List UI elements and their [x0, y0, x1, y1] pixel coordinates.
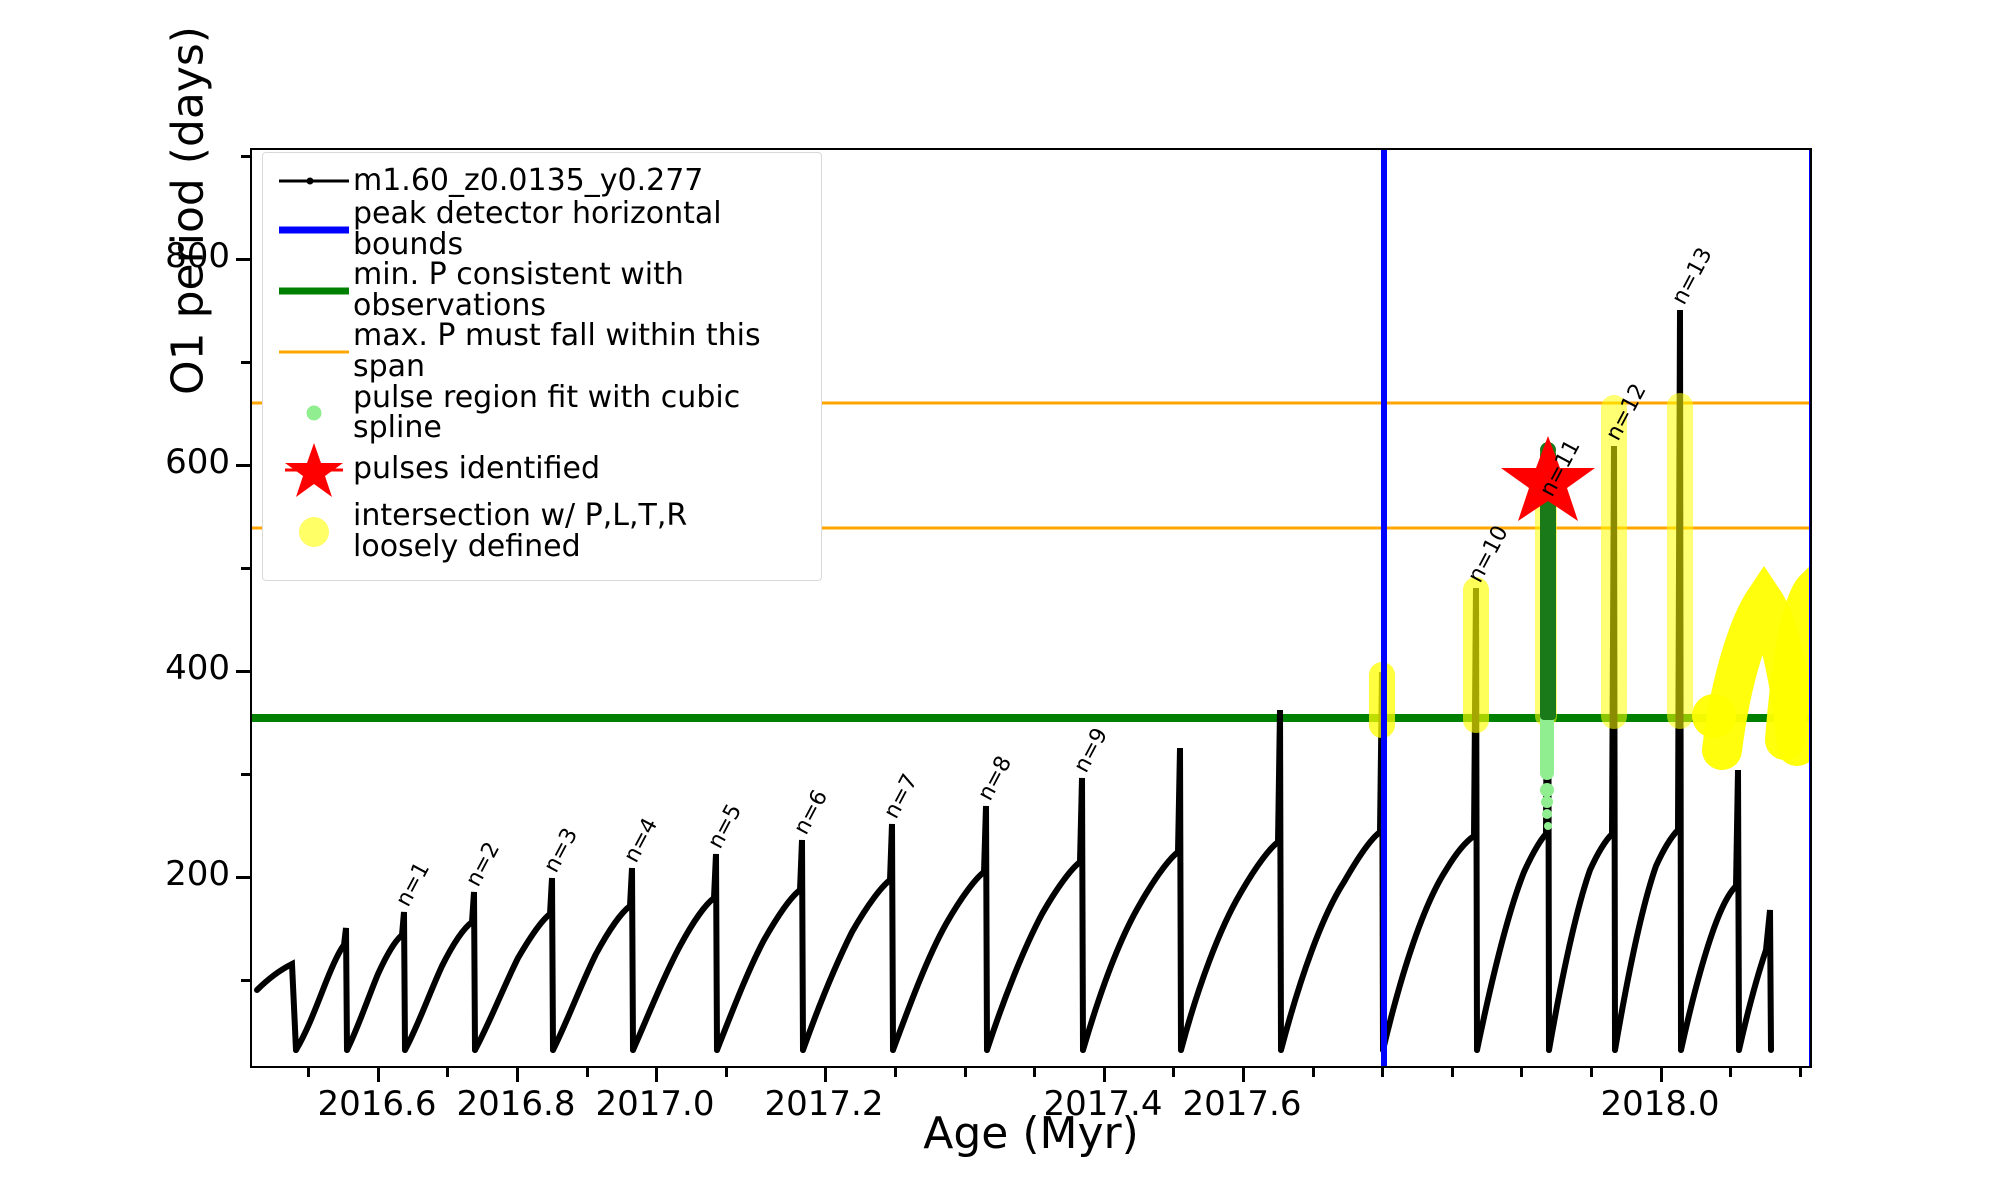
y-tick-label-200: 200 [120, 854, 230, 894]
legend-label: pulses identified [353, 454, 600, 485]
green-line-icon [275, 274, 353, 308]
x-tick-2017-0 [655, 1068, 658, 1082]
x-tick-2016-6 [377, 1068, 380, 1082]
chart-legend: m1.60_z0.0135_y0.277 peak detector horiz… [262, 152, 822, 581]
legend-item-max-span[interactable]: max. P must fall within this span [275, 321, 809, 382]
red-star-icon [275, 453, 353, 487]
legend-label: intersection w/ P,L,T,R loosely defined [353, 501, 687, 562]
x-tick-minor [586, 1068, 589, 1077]
x-tick-minor [964, 1068, 967, 1077]
y-tick-800 [236, 258, 250, 261]
x-tick-minor [1172, 1068, 1175, 1077]
x-tick-2017-2 [824, 1068, 827, 1082]
blue-line-icon [275, 213, 353, 247]
x-tick-minor [1729, 1068, 1732, 1077]
y-tick-minor [241, 361, 250, 364]
green-dot-icon [275, 396, 353, 430]
x-tick-minor [1451, 1068, 1454, 1077]
x-tick-minor [1033, 1068, 1036, 1077]
x-tick-2018-0 [1660, 1068, 1663, 1082]
legend-item-pulses[interactable]: pulses identified [275, 444, 809, 496]
x-tick-minor [1312, 1068, 1315, 1077]
x-tick-2017-6 [1242, 1068, 1245, 1082]
legend-item-model[interactable]: m1.60_z0.0135_y0.277 [275, 163, 809, 199]
x-tick-2017-4 [1103, 1068, 1106, 1082]
legend-label: pulse region fit with cubic spline [353, 383, 809, 444]
x-tick-label-2017-2: 2017.2 [724, 1084, 924, 1124]
legend-item-peak-bounds[interactable]: peak detector horizontal bounds [275, 199, 809, 260]
orange-line-icon [275, 335, 353, 369]
y-tick-minor [241, 155, 250, 158]
y-tick-label-600: 600 [120, 442, 230, 482]
black-line-with-dot-icon [275, 164, 353, 198]
legend-label: max. P must fall within this span [353, 321, 809, 382]
legend-item-min-period[interactable]: min. P consistent with observations [275, 260, 809, 321]
legend-item-intersection[interactable]: intersection w/ P,L,T,R loosely defined [275, 496, 809, 568]
y-tick-200 [236, 876, 250, 879]
legend-label: peak detector horizontal bounds [353, 199, 809, 260]
x-tick-minor [1381, 1068, 1384, 1077]
x-tick-minor [1799, 1068, 1802, 1077]
y-tick-600 [236, 464, 250, 467]
legend-label: m1.60_z0.0135_y0.277 [353, 166, 703, 197]
y-tick-label-400: 400 [120, 648, 230, 688]
x-tick-minor [725, 1068, 728, 1077]
x-tick-minor [1520, 1068, 1523, 1077]
y-tick-minor [241, 567, 250, 570]
y-tick-minor [241, 979, 250, 982]
x-tick-label-2018-0: 2018.0 [1560, 1084, 1760, 1124]
x-tick-minor [307, 1068, 310, 1077]
legend-item-spline[interactable]: pulse region fit with cubic spline [275, 383, 809, 444]
y-tick-label-800: 800 [120, 236, 230, 276]
x-tick-minor [446, 1068, 449, 1077]
x-tick-minor [894, 1068, 897, 1077]
y-tick-400 [236, 670, 250, 673]
figure-canvas: O1 period (days) Age (Myr) 800 600 400 2… [0, 0, 2000, 1200]
x-tick-minor [1590, 1068, 1593, 1077]
x-tick-2016-8 [516, 1068, 519, 1082]
legend-label: min. P consistent with observations [353, 260, 809, 321]
yellow-blob-icon [275, 515, 353, 549]
y-tick-minor [241, 773, 250, 776]
x-tick-label-2017-6: 2017.6 [1142, 1084, 1342, 1124]
